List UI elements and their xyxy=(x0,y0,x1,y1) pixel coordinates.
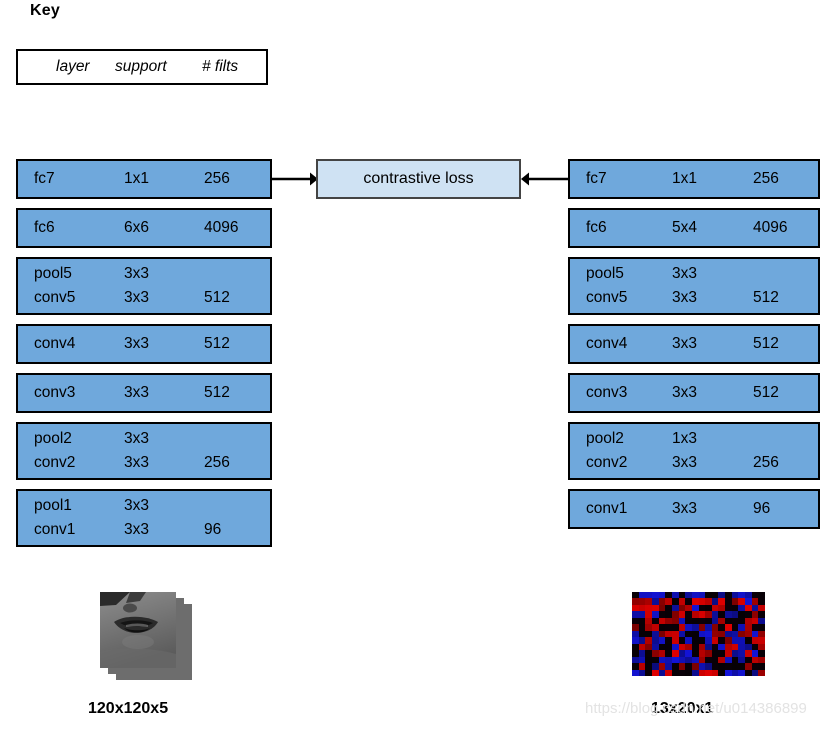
layer-support: 3x3 xyxy=(124,518,149,542)
layer-support: 3x3 xyxy=(124,262,149,286)
layer-support: 3x3 xyxy=(672,451,697,475)
layer-support: 3x3 xyxy=(124,332,149,356)
left-input-thumbnail xyxy=(98,592,193,680)
right-network-column: fc71x1256fc65x44096pool53x3conv53x3512co… xyxy=(568,159,820,538)
layer-row: pool23x3 xyxy=(18,427,270,451)
layer-name: pool1 xyxy=(34,494,72,518)
layer-block: fc66x64096 xyxy=(16,208,272,248)
layer-row: conv53x3512 xyxy=(570,286,818,310)
right-to-loss-arrow xyxy=(519,169,569,189)
spectrogram-heatmap xyxy=(632,592,765,676)
right-input-thumbnail xyxy=(632,592,765,676)
layer-row: conv33x3512 xyxy=(570,381,818,405)
key-column-layer: layer xyxy=(56,58,90,76)
layer-filter-count: 512 xyxy=(204,381,230,405)
layer-row: pool53x3 xyxy=(18,262,270,286)
arrow-right-icon xyxy=(270,169,318,189)
layer-row: pool13x3 xyxy=(18,494,270,518)
layer-support: 3x3 xyxy=(672,332,697,356)
diagram-canvas: Key layer support # filts fc71x1256fc66x… xyxy=(0,0,833,730)
heatmap-cell xyxy=(718,670,725,676)
layer-filter-count: 512 xyxy=(753,286,779,310)
layer-name: conv3 xyxy=(586,381,627,405)
layer-filter-count: 4096 xyxy=(204,216,238,240)
layer-block: pool53x3conv53x3512 xyxy=(16,257,272,315)
layer-name: conv1 xyxy=(586,497,627,521)
layer-block: conv33x3512 xyxy=(16,373,272,413)
layer-support: 3x3 xyxy=(124,427,149,451)
layer-support: 1x1 xyxy=(672,167,697,191)
heatmap-cell xyxy=(738,670,745,676)
layer-support: 3x3 xyxy=(672,497,697,521)
layer-name: fc6 xyxy=(34,216,55,240)
layer-name: conv2 xyxy=(34,451,75,475)
layer-block: pool23x3conv23x3256 xyxy=(16,422,272,480)
arrow-left-icon xyxy=(519,169,569,189)
layer-filter-count: 256 xyxy=(204,451,230,475)
heatmap-cell xyxy=(705,670,712,676)
heatmap-cell xyxy=(659,670,666,676)
heatmap-cell xyxy=(712,670,719,676)
layer-name: pool2 xyxy=(34,427,72,451)
layer-row: conv13x396 xyxy=(570,497,818,521)
layer-row: conv33x3512 xyxy=(18,381,270,405)
layer-row: conv53x3512 xyxy=(18,286,270,310)
layer-block: conv33x3512 xyxy=(568,373,820,413)
key-column-support: support xyxy=(115,58,167,76)
key-title: Key xyxy=(30,2,60,20)
layer-name: conv4 xyxy=(34,332,75,356)
layer-filter-count: 512 xyxy=(204,332,230,356)
watermark-text: https://blog.csdn.net/u014386899 xyxy=(585,700,807,717)
layer-support: 3x3 xyxy=(124,286,149,310)
left-network-column: fc71x1256fc66x64096pool53x3conv53x3512co… xyxy=(16,159,272,556)
heatmap-cell xyxy=(639,670,646,676)
layer-name: conv5 xyxy=(34,286,75,310)
layer-name: fc7 xyxy=(34,167,55,191)
heatmap-cell xyxy=(665,670,672,676)
layer-filter-count: 256 xyxy=(753,451,779,475)
video-frame-front xyxy=(100,592,176,668)
heatmap-cell xyxy=(745,670,752,676)
left-to-loss-arrow xyxy=(270,169,318,189)
layer-name: pool5 xyxy=(34,262,72,286)
layer-filter-count: 512 xyxy=(753,332,779,356)
heatmap-cell xyxy=(632,670,639,676)
layer-name: fc6 xyxy=(586,216,607,240)
layer-support: 3x3 xyxy=(124,381,149,405)
layer-row: fc65x44096 xyxy=(570,216,818,240)
layer-row: pool53x3 xyxy=(570,262,818,286)
layer-support: 3x3 xyxy=(672,381,697,405)
layer-support: 3x3 xyxy=(124,494,149,518)
key-legend-box: layer support # filts xyxy=(16,49,268,85)
heatmap-cell xyxy=(699,670,706,676)
layer-name: conv4 xyxy=(586,332,627,356)
layer-filter-count: 96 xyxy=(204,518,221,542)
layer-filter-count: 256 xyxy=(204,167,230,191)
layer-filter-count: 256 xyxy=(753,167,779,191)
contrastive-loss-label: contrastive loss xyxy=(363,170,473,188)
layer-support: 1x3 xyxy=(672,427,697,451)
heatmap-cell xyxy=(645,670,652,676)
layer-name: fc7 xyxy=(586,167,607,191)
layer-support: 1x1 xyxy=(124,167,149,191)
heatmap-cell xyxy=(652,670,659,676)
layer-name: pool2 xyxy=(586,427,624,451)
layer-block: fc65x44096 xyxy=(568,208,820,248)
layer-filter-count: 512 xyxy=(753,381,779,405)
contrastive-loss-node: contrastive loss xyxy=(316,159,521,199)
layer-support: 3x3 xyxy=(672,286,697,310)
layer-block: conv43x3512 xyxy=(16,324,272,364)
layer-block: fc71x1256 xyxy=(16,159,272,199)
layer-name: conv1 xyxy=(34,518,75,542)
layer-row: pool21x3 xyxy=(570,427,818,451)
layer-block: pool53x3conv53x3512 xyxy=(568,257,820,315)
layer-name: conv5 xyxy=(586,286,627,310)
layer-row: fc71x1256 xyxy=(570,167,818,191)
layer-row: conv23x3256 xyxy=(570,451,818,475)
heatmap-cell xyxy=(725,670,732,676)
layer-filter-count: 4096 xyxy=(753,216,787,240)
layer-name: pool5 xyxy=(586,262,624,286)
layer-block: conv13x396 xyxy=(568,489,820,529)
layer-row: conv13x396 xyxy=(18,518,270,542)
layer-filter-count: 512 xyxy=(204,286,230,310)
layer-support: 3x3 xyxy=(672,262,697,286)
layer-block: fc71x1256 xyxy=(568,159,820,199)
heatmap-cell xyxy=(672,670,679,676)
heatmap-cell xyxy=(679,670,686,676)
layer-block: pool21x3conv23x3256 xyxy=(568,422,820,480)
layer-block: pool13x3conv13x396 xyxy=(16,489,272,547)
layer-filter-count: 96 xyxy=(753,497,770,521)
left-input-dims: 120x120x5 xyxy=(88,700,168,718)
layer-row: conv23x3256 xyxy=(18,451,270,475)
mouth-image xyxy=(100,592,176,668)
heatmap-cell xyxy=(685,670,692,676)
layer-row: conv43x3512 xyxy=(570,332,818,356)
layer-row: fc66x64096 xyxy=(18,216,270,240)
layer-row: fc71x1256 xyxy=(18,167,270,191)
layer-support: 6x6 xyxy=(124,216,149,240)
layer-row: conv43x3512 xyxy=(18,332,270,356)
layer-name: conv3 xyxy=(34,381,75,405)
heatmap-cell xyxy=(732,670,739,676)
layer-support: 3x3 xyxy=(124,451,149,475)
key-legend-row: layer support # filts xyxy=(18,51,266,83)
key-column-filts: # filts xyxy=(202,58,238,76)
layer-name: conv2 xyxy=(586,451,627,475)
layer-block: conv43x3512 xyxy=(568,324,820,364)
layer-support: 5x4 xyxy=(672,216,697,240)
heatmap-cell xyxy=(692,670,699,676)
heatmap-cell xyxy=(752,670,759,676)
heatmap-cell xyxy=(758,670,765,676)
